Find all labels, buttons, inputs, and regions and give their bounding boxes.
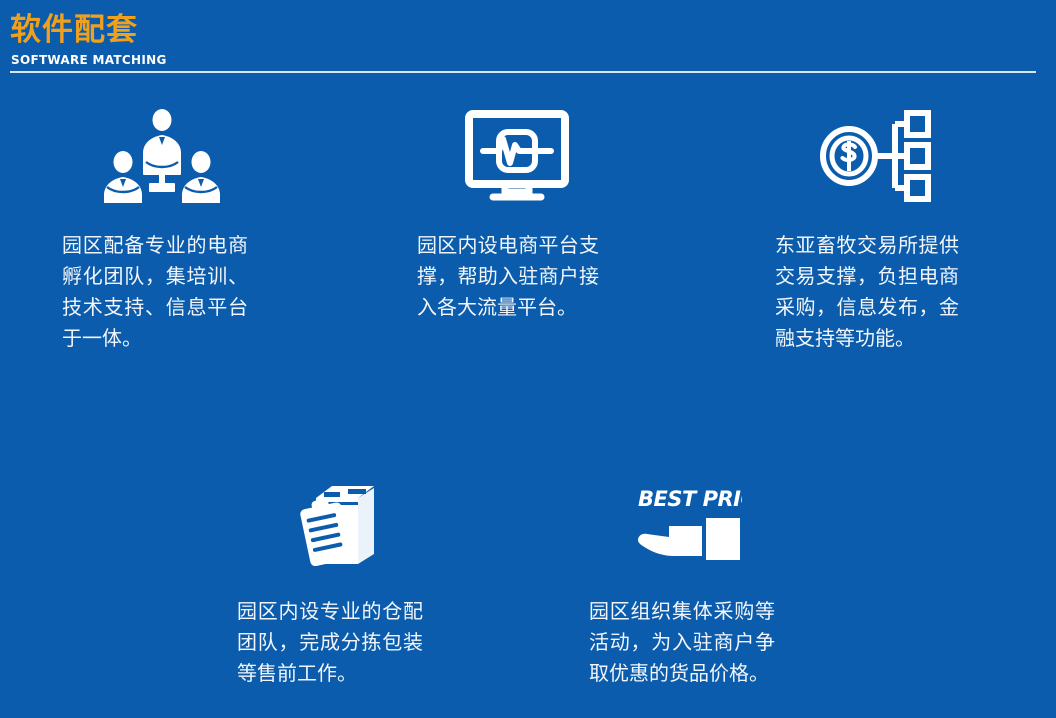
feature-card-text: 园区组织集体采购等活动，为入驻商户争取优惠的货品价格。 [589,596,775,689]
page-title: 软件配套 [10,11,138,49]
monitor-pulse-icon [417,100,617,212]
best-price-label: BEST PRICE [638,487,742,511]
box-clipboard-icon [237,466,437,578]
best-price-hand-icon: BEST PRICE [589,466,789,578]
feature-card-warehouse: 园区内设专业的仓配团队，完成分拣包装等售前工作。 [237,466,437,689]
feature-card-text: 园区配备专业的电商孵化团队，集培训、技术支持、信息平台于一体。 [62,230,248,354]
feature-card-exchange: 东亚畜牧交易所提供交易支撑，负担电商采购，信息发布，金融支持等功能。 [775,100,975,354]
feature-card-team: 园区配备专业的电商孵化团队，集培训、技术支持、信息平台于一体。 [62,100,262,354]
page-header: 软件配套 SOFTWARE MATCHING [0,0,1056,82]
feature-card-price: BEST PRICE 园区组织集体采购等活动，为入驻商户争取优惠的货品价格。 [589,466,789,689]
page-subtitle: SOFTWARE MATCHING [11,53,167,67]
dollar-hierarchy-icon [775,100,975,212]
team-people-icon [62,100,262,212]
header-divider [10,71,1036,73]
feature-card-text: 园区内设电商平台支撑，帮助入驻商户接入各大流量平台。 [417,230,599,323]
feature-card-text: 园区内设专业的仓配团队，完成分拣包装等售前工作。 [237,596,423,689]
feature-card-text: 东亚畜牧交易所提供交易支撑，负担电商采购，信息发布，金融支持等功能。 [775,230,959,354]
feature-card-platform: 园区内设电商平台支撑，帮助入驻商户接入各大流量平台。 [417,100,617,323]
